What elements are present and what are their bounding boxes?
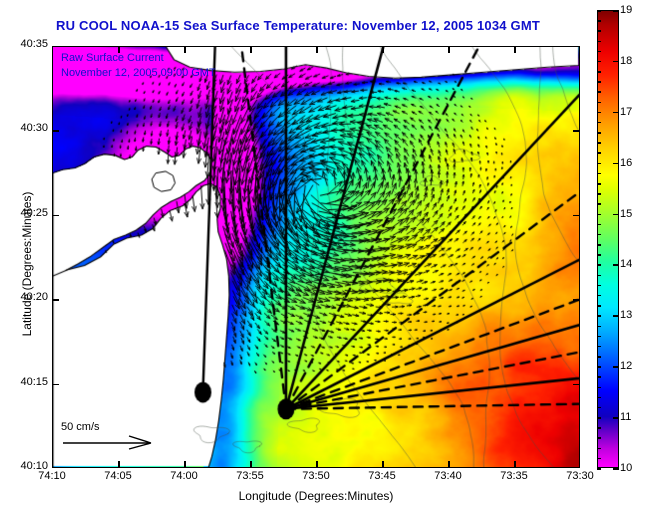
colorbar-minor-tick bbox=[597, 102, 601, 104]
colorbar-minor-tick bbox=[597, 122, 601, 124]
x-tick-label: 73:55 bbox=[236, 470, 264, 482]
colorbar-tick-label: 18 bbox=[620, 55, 632, 67]
colorbar-minor-tick bbox=[597, 152, 601, 154]
colorbar-tick-label: 12 bbox=[620, 360, 632, 372]
colorbar-minor-tick bbox=[597, 244, 601, 246]
colorbar-tick-label: 17 bbox=[620, 106, 632, 118]
x-tick-label: 74:05 bbox=[104, 470, 132, 482]
colorbar-minor-tick bbox=[597, 173, 601, 175]
colorbar-tick-label: 10 bbox=[620, 462, 632, 474]
colorbar-minor-tick bbox=[597, 417, 601, 419]
colorbar-tick-mark bbox=[613, 61, 619, 63]
x-axis-tick-mark bbox=[514, 461, 516, 468]
colorbar-tick-label: 15 bbox=[620, 208, 632, 220]
figure-title: RU COOL NOAA-15 Sea Surface Temperature:… bbox=[0, 18, 596, 33]
y-axis-tick-mark bbox=[573, 299, 580, 301]
y-axis-tick-mark bbox=[573, 384, 580, 386]
x-tick-label: 73:50 bbox=[302, 470, 330, 482]
colorbar-minor-tick bbox=[597, 61, 601, 63]
colorbar-minor-tick bbox=[597, 163, 601, 165]
colorbar-minor-tick bbox=[597, 336, 601, 338]
colorbar-minor-tick bbox=[597, 254, 601, 256]
colorbar-tick-mark bbox=[613, 112, 619, 114]
colorbar-minor-tick bbox=[597, 376, 601, 378]
colorbar-minor-tick bbox=[597, 234, 601, 236]
colorbar-minor-tick bbox=[597, 407, 601, 409]
x-axis-label: Longitude (Degrees:Minutes) bbox=[52, 489, 580, 503]
y-axis-label: Latitude (Degrees:Minutes) bbox=[20, 144, 34, 384]
sst-map-figure: RU COOL NOAA-15 Sea Surface Temperature:… bbox=[0, 0, 651, 519]
colorbar-minor-tick bbox=[597, 10, 601, 12]
colorbar-minor-tick bbox=[597, 326, 601, 328]
x-axis-tick-mark bbox=[316, 461, 318, 468]
colorbar-minor-tick bbox=[597, 458, 601, 460]
colorbar-tick-mark bbox=[613, 10, 619, 12]
colorbar-minor-tick bbox=[597, 20, 601, 22]
colorbar-minor-tick bbox=[597, 224, 601, 226]
scale-legend-label: 50 cm/s bbox=[61, 421, 171, 433]
colorbar-minor-tick bbox=[597, 214, 601, 216]
x-tick-label: 73:30 bbox=[566, 470, 594, 482]
colorbar-tick-label: 19 bbox=[620, 4, 632, 16]
colorbar-minor-tick bbox=[597, 305, 601, 307]
x-axis-tick-mark bbox=[118, 461, 120, 468]
y-axis-tick-mark bbox=[52, 384, 59, 386]
x-axis-tick-mark bbox=[382, 461, 384, 468]
colorbar-tick-mark bbox=[613, 163, 619, 165]
velocity-scale-legend: 50 cm/s bbox=[61, 421, 171, 455]
colorbar-minor-tick bbox=[597, 132, 601, 134]
x-tick-label: 73:40 bbox=[434, 470, 462, 482]
colorbar-minor-tick bbox=[597, 193, 601, 195]
colorbar bbox=[597, 10, 619, 468]
colorbar-minor-tick bbox=[597, 112, 601, 114]
colorbar-minor-tick bbox=[597, 315, 601, 317]
x-axis-tick-mark bbox=[184, 46, 186, 53]
colorbar-minor-tick bbox=[597, 356, 601, 358]
x-axis-tick-mark bbox=[250, 46, 252, 53]
colorbar-minor-tick bbox=[597, 51, 601, 53]
x-tick-label: 73:45 bbox=[368, 470, 396, 482]
y-axis-tick-mark bbox=[573, 215, 580, 217]
colorbar-minor-tick bbox=[597, 346, 601, 348]
x-tick-label: 73:35 bbox=[500, 470, 528, 482]
x-axis-tick-mark bbox=[118, 46, 120, 53]
colorbar-minor-tick bbox=[597, 275, 601, 277]
colorbar-minor-tick bbox=[597, 387, 601, 389]
colorbar-minor-tick bbox=[597, 71, 601, 73]
x-axis-tick-mark bbox=[184, 461, 186, 468]
colorbar-minor-tick bbox=[597, 285, 601, 287]
colorbar-minor-tick bbox=[597, 366, 601, 368]
y-axis-tick-mark bbox=[52, 215, 59, 217]
colorbar-minor-tick bbox=[597, 183, 601, 185]
colorbar-minor-tick bbox=[597, 437, 601, 439]
colorbar-tick-mark bbox=[613, 214, 619, 216]
colorbar-tick-label: 11 bbox=[620, 411, 631, 423]
colorbar-tick-label: 16 bbox=[620, 157, 632, 169]
x-axis-tick-mark bbox=[316, 46, 318, 53]
colorbar-minor-tick bbox=[597, 427, 601, 429]
y-axis-tick-mark bbox=[52, 130, 59, 132]
colorbar-minor-tick bbox=[597, 264, 601, 266]
colorbar-minor-tick bbox=[597, 30, 601, 32]
colorbar-minor-tick bbox=[597, 41, 601, 43]
x-axis-tick-mark bbox=[514, 46, 516, 53]
x-axis-tick-mark bbox=[250, 461, 252, 468]
colorbar-minor-tick bbox=[597, 468, 601, 470]
map-plot-area[interactable]: Raw Surface Current November 12, 2005 09… bbox=[52, 46, 580, 468]
right-arrow-icon bbox=[61, 434, 161, 450]
colorbar-tick-mark bbox=[613, 264, 619, 266]
colorbar-minor-tick bbox=[597, 203, 601, 205]
colorbar-minor-tick bbox=[597, 142, 601, 144]
colorbar-tick-mark bbox=[613, 417, 619, 419]
x-axis-tick-mark bbox=[448, 46, 450, 53]
colorbar-minor-tick bbox=[597, 295, 601, 297]
y-axis-tick-mark bbox=[52, 299, 59, 301]
x-axis-tick-mark bbox=[382, 46, 384, 53]
colorbar-minor-tick bbox=[597, 91, 601, 93]
colorbar-tick-label: 14 bbox=[620, 258, 632, 270]
x-tick-label: 74:00 bbox=[170, 470, 198, 482]
colorbar-tick-label: 13 bbox=[620, 309, 632, 321]
x-axis-tick-mark bbox=[448, 461, 450, 468]
colorbar-minor-tick bbox=[597, 81, 601, 83]
colorbar-tick-mark bbox=[613, 315, 619, 317]
colorbar-tick-mark bbox=[613, 366, 619, 368]
colorbar-tick-mark bbox=[613, 468, 619, 470]
y-axis-tick-mark bbox=[573, 130, 580, 132]
colorbar-minor-tick bbox=[597, 448, 601, 450]
colorbar-minor-tick bbox=[597, 397, 601, 399]
sst-map-canvas bbox=[53, 47, 579, 467]
